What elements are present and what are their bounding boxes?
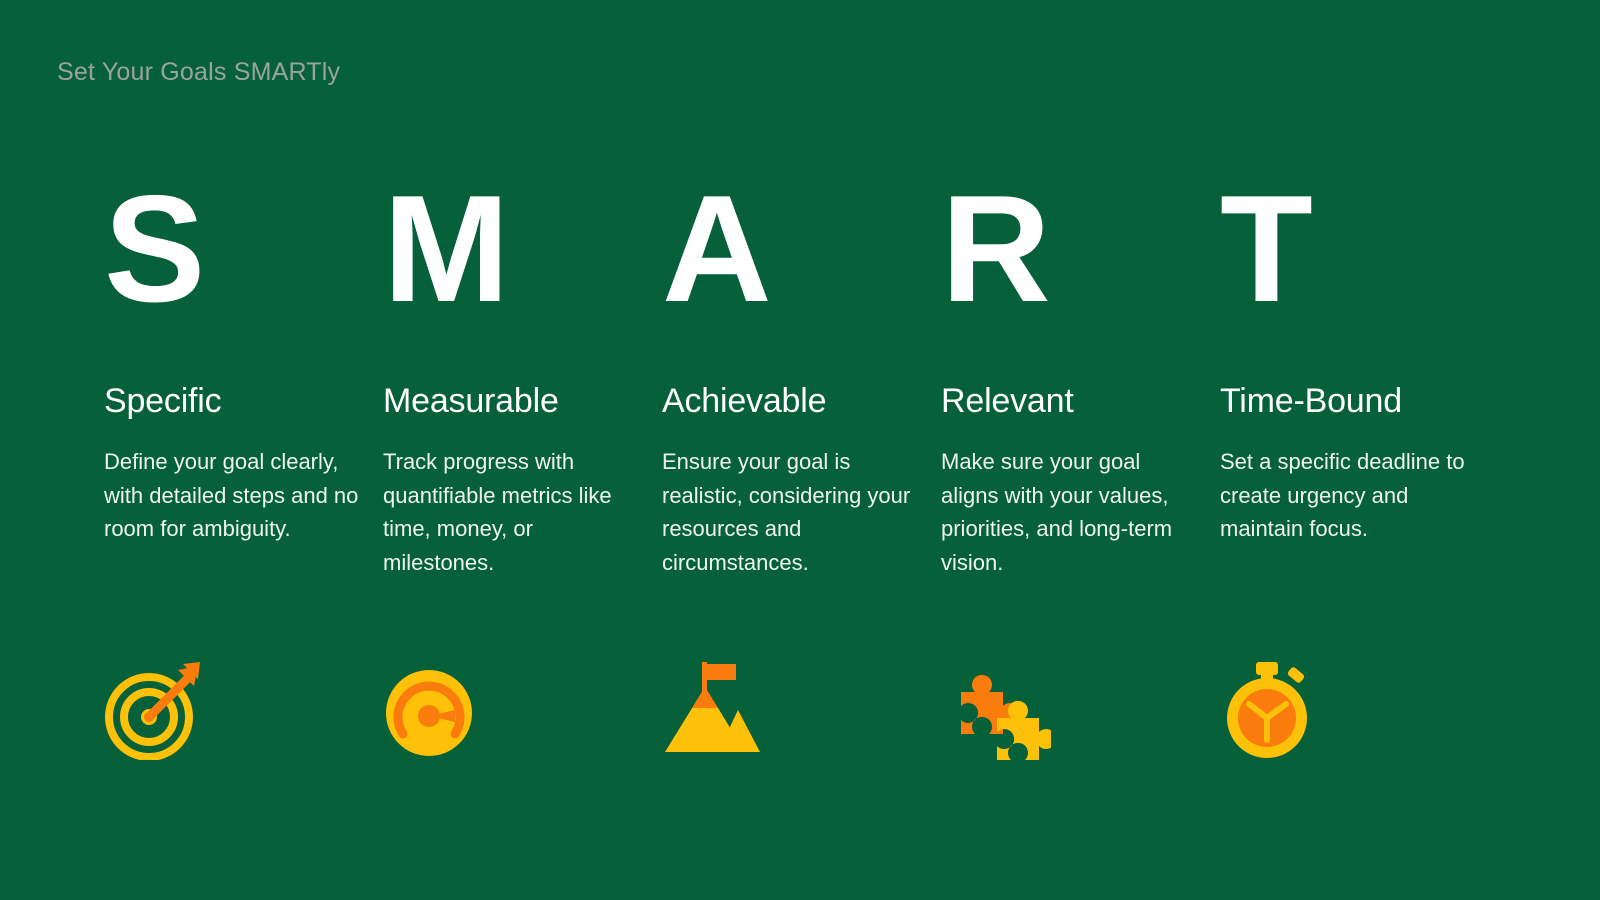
smart-column-relevant: R Relevant Make sure your goal aligns wi… — [941, 178, 1220, 579]
mountain-flag-icon — [662, 660, 762, 760]
body-measurable: Track progress with quantifiable metrics… — [383, 445, 645, 579]
letter-t: T — [1220, 178, 1499, 320]
smart-column-achievable: A Achievable Ensure your goal is realist… — [662, 178, 941, 579]
icon-cell-achievable — [662, 660, 941, 760]
heading-specific: Specific — [104, 382, 383, 420]
smart-goals-slide: Set Your Goals SMARTly S Specific Define… — [0, 0, 1600, 900]
icon-cell-relevant — [941, 660, 1220, 760]
icon-cell-time-bound — [1220, 660, 1499, 760]
body-relevant: Make sure your goal aligns with your val… — [941, 445, 1203, 579]
page-title: Set Your Goals SMARTly — [57, 58, 340, 87]
letter-s: S — [104, 178, 383, 320]
heading-measurable: Measurable — [383, 382, 662, 420]
body-specific: Define your goal clearly, with detailed … — [104, 445, 366, 546]
target-dart-icon — [104, 660, 204, 760]
smart-column-time-bound: T Time-Bound Set a specific deadline to … — [1220, 178, 1499, 546]
smart-column-measurable: M Measurable Track progress with quantif… — [383, 178, 662, 579]
heading-relevant: Relevant — [941, 382, 1220, 420]
heading-time-bound: Time-Bound — [1220, 382, 1499, 420]
letter-m: M — [383, 178, 662, 320]
smart-column-specific: S Specific Define your goal clearly, wit… — [104, 178, 383, 546]
smart-columns: S Specific Define your goal clearly, wit… — [104, 178, 1524, 579]
letter-a: A — [662, 178, 941, 320]
gauge-speedometer-icon — [383, 660, 483, 760]
icon-cell-specific — [104, 660, 383, 760]
letter-r: R — [941, 178, 1220, 320]
stopwatch-icon — [1220, 660, 1320, 760]
icon-cell-measurable — [383, 660, 662, 760]
body-achievable: Ensure your goal is realistic, consideri… — [662, 445, 924, 579]
puzzle-pieces-icon — [941, 660, 1051, 760]
heading-achievable: Achievable — [662, 382, 941, 420]
smart-icons-row — [104, 660, 1524, 760]
body-time-bound: Set a specific deadline to create urgenc… — [1220, 445, 1482, 546]
